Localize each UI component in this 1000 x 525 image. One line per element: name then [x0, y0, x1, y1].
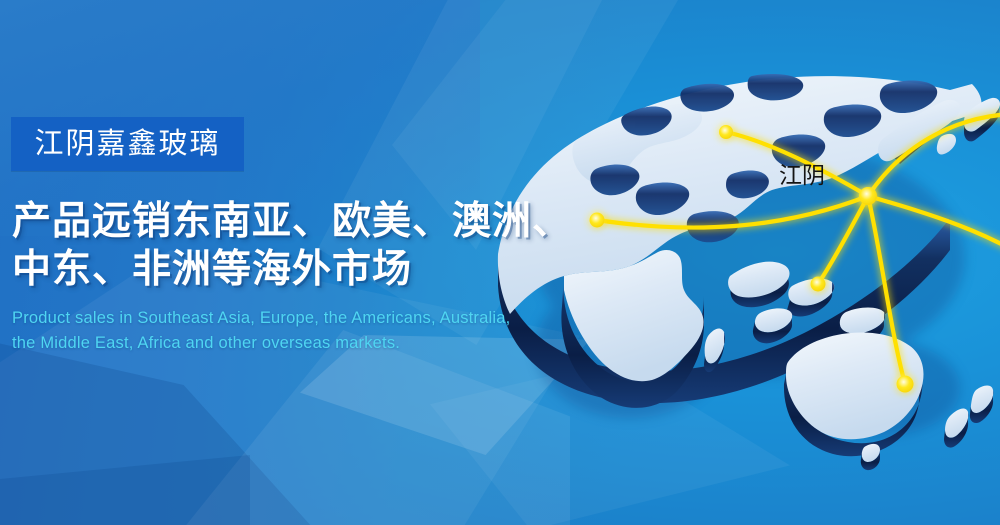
- route-node-southeast-asia: [811, 277, 826, 292]
- subtitle-line-2: the Middle East, Africa and other overse…: [12, 331, 572, 356]
- headline-line-2: 中东、非洲等海外市场: [12, 246, 572, 294]
- subtitle-line-1: Product sales in Southeast Asia, Europe,…: [12, 306, 572, 331]
- route-node-northern-europe: [719, 125, 733, 139]
- subtitle: Product sales in Southeast Asia, Europe,…: [12, 306, 572, 356]
- route-node-western-europe: [590, 213, 605, 228]
- headline-line-1: 产品远销东南亚、欧美、澳洲、: [12, 198, 572, 246]
- route-node-hub-jiangyin: [859, 187, 877, 205]
- brand-badge-label: 江阴嘉鑫玻璃: [11, 117, 244, 171]
- route-node-australia: [897, 376, 914, 393]
- brand-badge: 江阴嘉鑫玻璃: [11, 117, 244, 171]
- map-hub-label: 江阴: [779, 163, 825, 189]
- landmass-australia: [784, 333, 993, 471]
- headline: 产品远销东南亚、欧美、澳洲、 中东、非洲等海外市场: [12, 198, 572, 294]
- promo-banner: 江阴 江阴嘉鑫玻璃 产品远销东南亚、欧美、澳洲、 中东、非洲等海外市场 Prod…: [0, 0, 1000, 525]
